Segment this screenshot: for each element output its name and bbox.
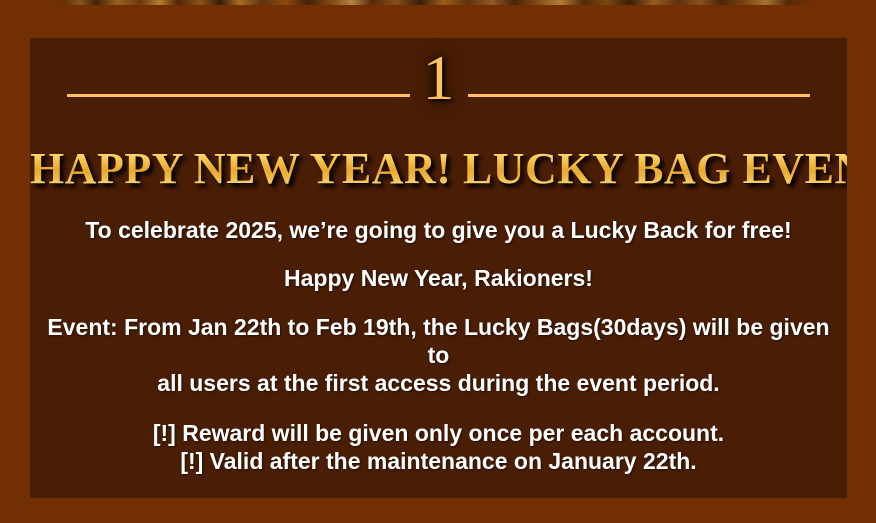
event-body-text: To celebrate 2025, we’re going to give y… [30, 216, 847, 475]
intro-line: To celebrate 2025, we’re going to give y… [44, 216, 833, 244]
cropped-image-sliver [0, 0, 876, 5]
greeting-paragraph: Happy New Year, Rakioners! [30, 264, 847, 292]
slide-number: 1 [30, 46, 847, 110]
event-details-line-1: Event: From Jan 22th to Feb 19th, the Lu… [44, 313, 833, 369]
page-title: HAPPY NEW YEAR! LUCKY BAG EVENT [30, 146, 847, 192]
notes-paragraph: [!] Reward will be given only once per e… [30, 419, 847, 475]
event-announcement-panel: 1 HAPPY NEW YEAR! LUCKY BAG EVENT To cel… [30, 38, 847, 498]
note-line-1: [!] Reward will be given only once per e… [44, 419, 833, 447]
event-details-paragraph: Event: From Jan 22th to Feb 19th, the Lu… [30, 313, 847, 397]
event-details-line-2: all users at the first access during the… [44, 369, 833, 397]
note-line-2: [!] Valid after the maintenance on Janua… [44, 447, 833, 475]
greeting-line: Happy New Year, Rakioners! [44, 264, 833, 292]
intro-paragraph: To celebrate 2025, we’re going to give y… [30, 216, 847, 244]
slide-number-row: 1 [30, 38, 847, 118]
